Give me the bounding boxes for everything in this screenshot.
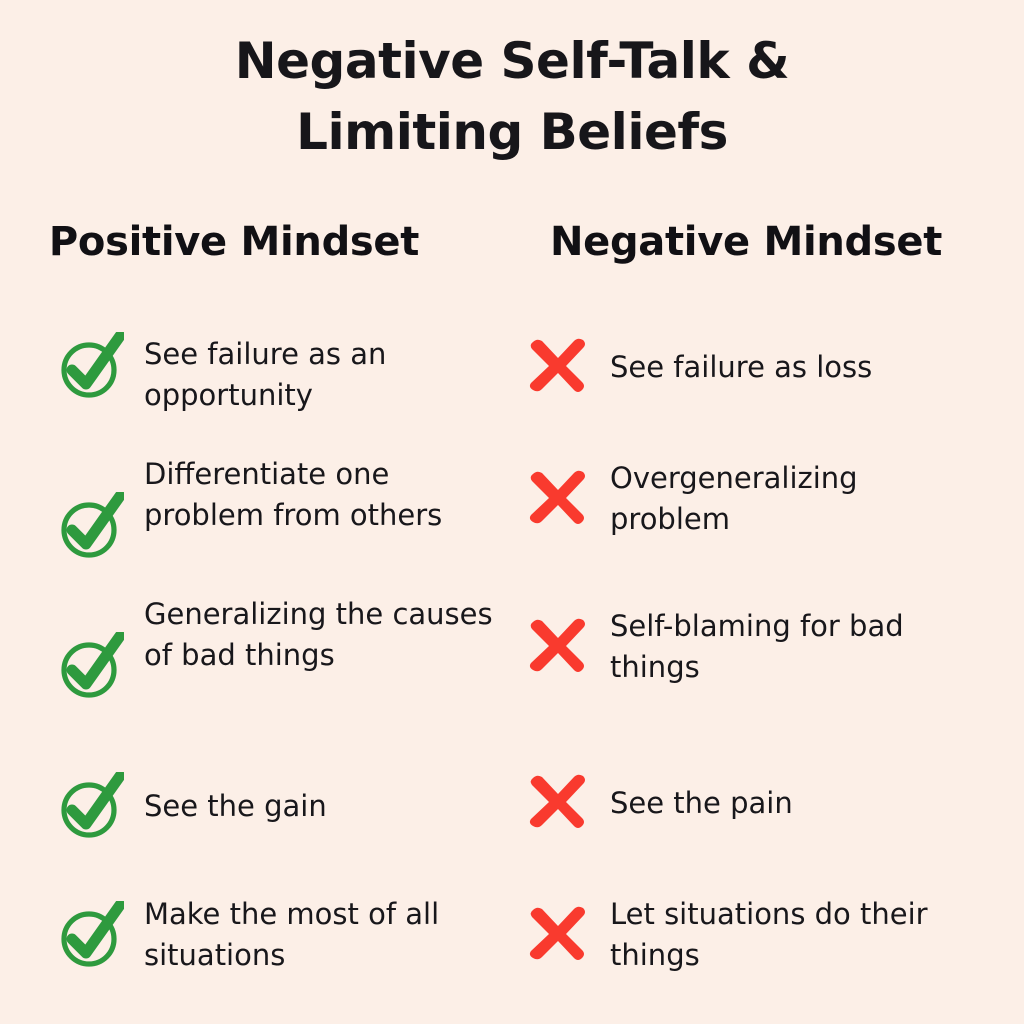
column-header-positive: Positive Mindset	[0, 216, 512, 268]
check-circle-icon	[58, 772, 144, 838]
check-circle-icon	[58, 901, 144, 967]
comparison-columns: Positive Mindset See failure as an oppor…	[0, 216, 1024, 1016]
page-title: Negative Self-Talk & Limiting Beliefs	[0, 26, 1024, 168]
list-item-label: See the pain	[610, 781, 976, 824]
cross-mark-icon	[524, 468, 610, 528]
list-item: Differentiate one problem from others	[58, 452, 510, 558]
column-negative-mindset: Negative Mindset See failure as loss	[512, 216, 1024, 1016]
list-item: See failure as an opportunity	[58, 332, 510, 416]
title-line-1: Negative Self-Talk &	[0, 26, 1024, 97]
list-item: See the pain	[524, 772, 976, 832]
list-item-label: See the gain	[144, 784, 510, 827]
infographic-root: Negative Self-Talk & Limiting Beliefs Po…	[0, 0, 1024, 1024]
title-line-2: Limiting Beliefs	[0, 97, 1024, 168]
column-positive-mindset: Positive Mindset See failure as an oppor…	[0, 216, 512, 1016]
list-item-label: Generalizing the causes of bad things	[144, 592, 510, 676]
check-circle-icon	[58, 592, 144, 698]
list-item-label: Let situations do their things	[610, 892, 976, 976]
list-item-label: See failure as loss	[610, 345, 976, 388]
cross-mark-icon	[524, 904, 610, 964]
list-item: See the gain	[58, 772, 510, 838]
check-circle-icon	[58, 332, 144, 398]
list-item-label: Self-blaming for bad things	[610, 604, 976, 688]
cross-mark-icon	[524, 772, 610, 832]
list-item: See failure as loss	[524, 336, 976, 396]
list-item: Let situations do their things	[524, 892, 976, 976]
check-circle-icon	[58, 452, 144, 558]
list-item: Generalizing the causes of bad things	[58, 592, 510, 698]
list-item: Overgeneralizing problem	[524, 456, 976, 540]
cross-mark-icon	[524, 336, 610, 396]
list-item-label: See failure as an opportunity	[144, 332, 510, 416]
list-item-label: Overgeneralizing problem	[610, 456, 976, 540]
list-item: Self-blaming for bad things	[524, 604, 976, 688]
column-header-negative: Negative Mindset	[512, 216, 1024, 268]
list-item-label: Make the most of all situations	[144, 892, 510, 976]
cross-mark-icon	[524, 616, 610, 676]
list-item: Make the most of all situations	[58, 892, 510, 976]
list-item-label: Differentiate one problem from others	[144, 452, 510, 536]
